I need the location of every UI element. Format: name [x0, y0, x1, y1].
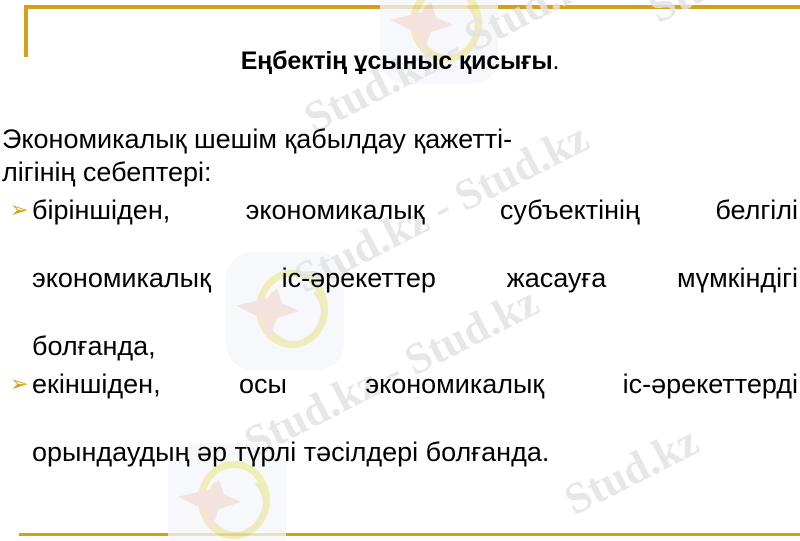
bullet-arrow-icon: ➢ — [2, 367, 32, 401]
bullet-1-line-3: болғанда, — [32, 329, 798, 363]
page-title-text: Еңбектің ұсыныс қисығы — [241, 47, 553, 75]
slide-canvas: Stud.kz - Stud.kz Stud.kz - Stud.kz Stud… — [0, 0, 800, 541]
slide-content: Еңбектің ұсыныс қисығы. Экономикалық шеш… — [0, 0, 800, 541]
list-item: ➢ біріншіден, экономикалық субъектінің б… — [2, 193, 798, 363]
intro-paragraph: Экономикалық шешім қабылдау қажетті- ліг… — [2, 123, 798, 189]
bullet-2-line-2: орындаудың әр түрлі тәсілдері болғанда. — [32, 435, 798, 469]
list-item-text: екіншіден, осы экономикалық іс-әрекеттер… — [32, 367, 798, 469]
bullet-arrow-icon: ➢ — [2, 193, 32, 227]
page-title: Еңбектің ұсыныс қисығы. — [0, 47, 800, 76]
slide-body: Экономикалық шешім қабылдау қажетті- ліг… — [2, 123, 798, 469]
intro-line-2: лігінің себептері: — [2, 156, 798, 189]
list-item-text: біріншіден, экономикалық субъектінің бел… — [32, 193, 798, 363]
bullet-1-line-1: біріншіден, экономикалық субъектінің бел… — [32, 193, 798, 261]
bullet-1-line-2: экономикалық іс-әрекеттер жасауға мүмкін… — [32, 261, 798, 329]
page-title-punctuation: . — [553, 47, 560, 75]
bullet-2-line-1: екіншіден, осы экономикалық іс-әрекеттер… — [32, 367, 798, 435]
intro-line-1: Экономикалық шешім қабылдау қажетті- — [2, 123, 798, 156]
list-item: ➢ екіншіден, осы экономикалық іс-әрекетт… — [2, 367, 798, 469]
